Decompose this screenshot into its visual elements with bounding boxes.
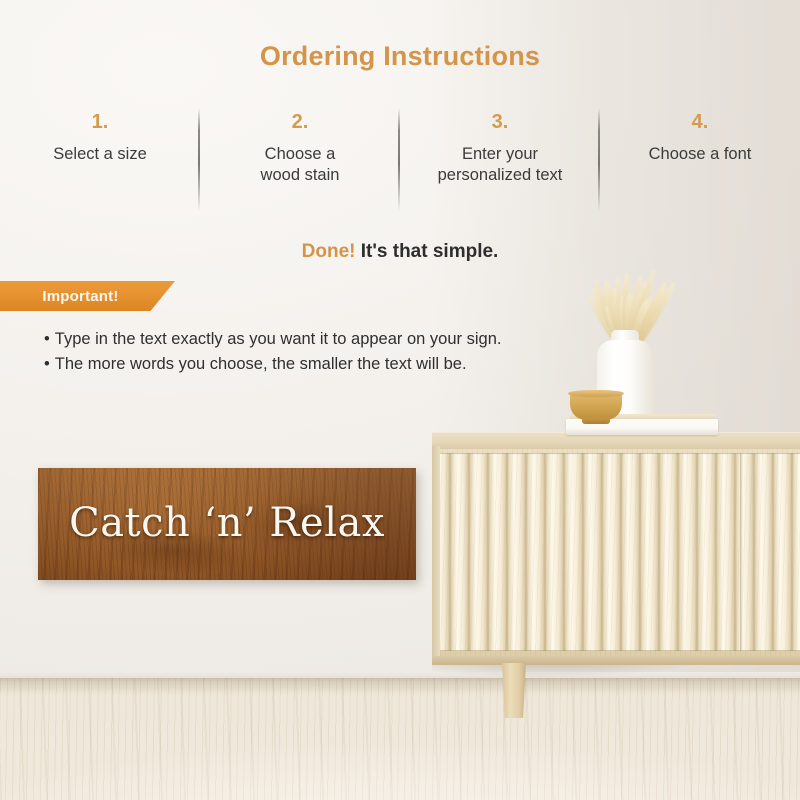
step-2: 2. Choose a wood stain	[200, 112, 400, 217]
floor	[0, 678, 800, 800]
sideboard-furniture	[432, 432, 800, 682]
step-3: 3. Enter your personalized text	[400, 112, 600, 217]
step-label: Choose a font	[600, 144, 800, 165]
sign-personalized-text: Catch ‘n’ Relax	[38, 500, 416, 546]
steps-list: 1. Select a size 2. Choose a wood stain …	[0, 112, 800, 217]
bullet-marker: •	[44, 355, 50, 373]
sideboard-panel-edge	[438, 453, 800, 651]
step-1: 1. Select a size	[0, 112, 200, 217]
wood-sign-product: Catch ‘n’ Relax	[38, 468, 416, 580]
wooden-bowl-rim	[568, 390, 624, 397]
list-item: •The more words you choose, the smaller …	[44, 352, 644, 377]
done-accent: Done!	[302, 241, 356, 262]
step-number: 1.	[0, 112, 200, 132]
sideboard-body	[432, 449, 800, 656]
floor-sheen	[0, 678, 800, 800]
bullet-marker: •	[44, 330, 50, 348]
important-bullet-list: •Type in the text exactly as you want it…	[44, 327, 644, 377]
bullet-text: Type in the text exactly as you want it …	[55, 330, 502, 348]
product-listing-image: Catch ‘n’ Relax Ordering Instructions 1.…	[0, 0, 800, 800]
step-4: 4. Choose a font	[600, 112, 800, 217]
sideboard-leg	[502, 663, 526, 718]
done-line: Done! It's that simple.	[0, 241, 800, 263]
important-banner-label: Important!	[0, 288, 175, 305]
step-number: 4.	[600, 112, 800, 132]
important-banner: Important!	[0, 281, 175, 311]
wooden-bowl-foot	[582, 418, 610, 424]
bullet-text: The more words you choose, the smaller t…	[55, 355, 467, 373]
step-label: Enter your personalized text	[400, 144, 600, 185]
sideboard-base	[432, 656, 800, 665]
step-number: 2.	[200, 112, 400, 132]
step-number: 3.	[400, 112, 600, 132]
list-item: •Type in the text exactly as you want it…	[44, 327, 644, 352]
done-rest: It's that simple.	[356, 241, 499, 262]
page-title: Ordering Instructions	[0, 41, 800, 72]
sideboard-side-edge	[432, 446, 440, 658]
step-label: Select a size	[0, 144, 200, 165]
step-label: Choose a wood stain	[200, 144, 400, 185]
